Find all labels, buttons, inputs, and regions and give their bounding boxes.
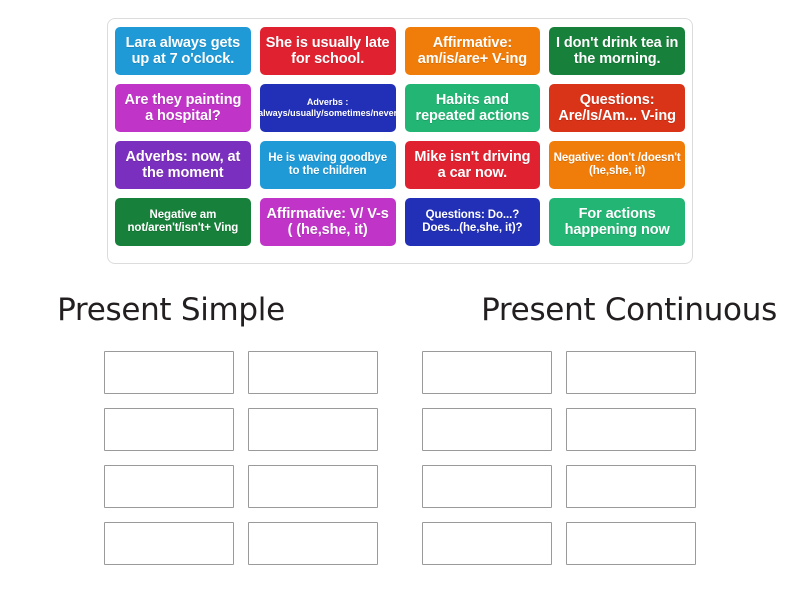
- word-tile[interactable]: She is usually late for school.: [260, 27, 396, 75]
- word-tile[interactable]: Questions: Do...? Does...(he,she, it)?: [405, 198, 541, 246]
- drop-slot[interactable]: [248, 408, 378, 451]
- drop-zones: [0, 351, 800, 565]
- word-tile[interactable]: He is waving goodbye to the children: [260, 141, 396, 189]
- drop-slot[interactable]: [104, 408, 234, 451]
- word-tile[interactable]: Affirmative: V/ V-s ( (he,she, it): [260, 198, 396, 246]
- word-tile[interactable]: Are they painting a hospital?: [115, 84, 251, 132]
- word-tile[interactable]: Negative: don't /doesn't (he,she, it): [549, 141, 685, 189]
- drop-slot[interactable]: [566, 351, 696, 394]
- word-tile[interactable]: Habits and repeated actions: [405, 84, 541, 132]
- word-tile[interactable]: Negative am not/aren't/isn't+ Ving: [115, 198, 251, 246]
- drop-slot[interactable]: [566, 522, 696, 565]
- word-bank-tile-grid: Lara always gets up at 7 o'clock. She is…: [115, 27, 685, 255]
- word-tile[interactable]: Adverbs : always/usually/sometimes/never: [260, 84, 396, 132]
- drop-slot[interactable]: [104, 522, 234, 565]
- word-tile[interactable]: I don't drink tea in the morning.: [549, 27, 685, 75]
- group-heading-present-continuous: Present Continuous: [481, 292, 777, 328]
- drop-slot[interactable]: [422, 522, 552, 565]
- word-tile[interactable]: Questions: Are/Is/Am... V-ing: [549, 84, 685, 132]
- group-headings-row: Present Simple Present Continuous: [0, 292, 800, 328]
- drop-slot[interactable]: [422, 465, 552, 508]
- word-tile[interactable]: Affirmative: am/is/are+ V-ing: [405, 27, 541, 75]
- group-heading-present-simple: Present Simple: [57, 292, 285, 328]
- word-bank-panel: Lara always gets up at 7 o'clock. She is…: [107, 18, 693, 264]
- group-heading-column: Present Simple: [0, 292, 422, 328]
- drop-slot[interactable]: [248, 522, 378, 565]
- drop-slot[interactable]: [104, 465, 234, 508]
- word-tile[interactable]: For actions happening now: [549, 198, 685, 246]
- group-heading-column: Present Continuous: [422, 292, 800, 328]
- drop-slot[interactable]: [104, 351, 234, 394]
- word-tile[interactable]: Lara always gets up at 7 o'clock.: [115, 27, 251, 75]
- group-sort-activity: Lara always gets up at 7 o'clock. She is…: [0, 0, 800, 600]
- drop-slot[interactable]: [566, 408, 696, 451]
- drop-slot[interactable]: [248, 351, 378, 394]
- drop-group-present-continuous: [422, 351, 696, 565]
- drop-slot[interactable]: [422, 408, 552, 451]
- drop-slot[interactable]: [248, 465, 378, 508]
- drop-slot[interactable]: [422, 351, 552, 394]
- word-tile[interactable]: Adverbs: now, at the moment: [115, 141, 251, 189]
- drop-group-present-simple: [104, 351, 378, 565]
- word-tile[interactable]: Mike isn't driving a car now.: [405, 141, 541, 189]
- drop-slot[interactable]: [566, 465, 696, 508]
